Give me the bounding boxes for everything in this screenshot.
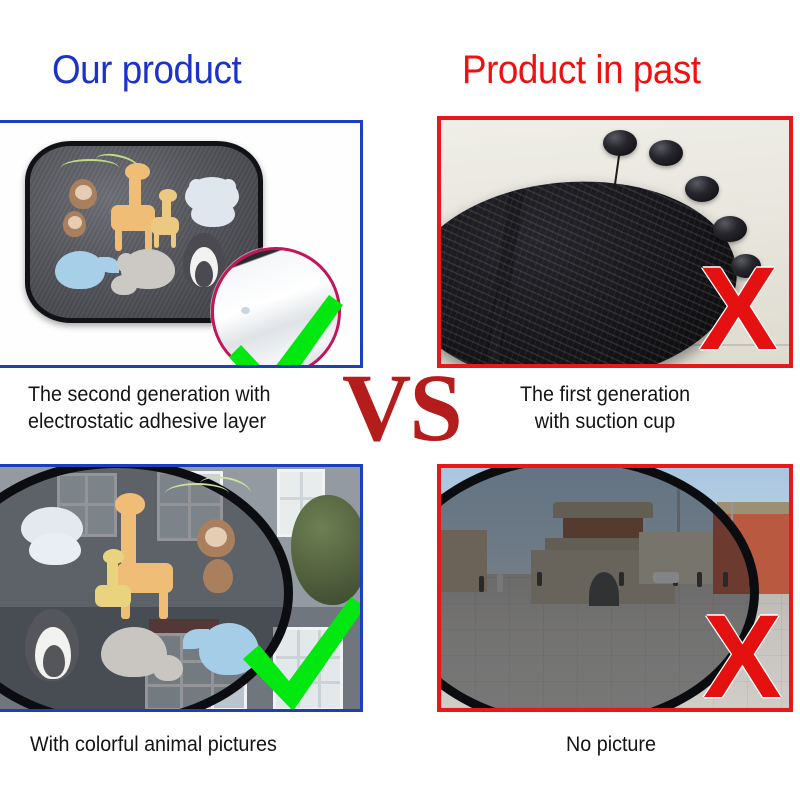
suction-cup-4 — [713, 216, 747, 242]
giraffe-decal-small-leg-1 — [154, 233, 159, 248]
heading-product-in-past: Product in past — [462, 48, 701, 93]
koala-decal-ear-left — [189, 179, 204, 194]
panel-bottom-right-no-picture: X — [437, 464, 793, 712]
giraffe-decal-installed-head — [115, 493, 145, 515]
elephant-decal-installed-baby — [153, 655, 183, 681]
penguin-decal-chick — [195, 261, 213, 287]
monkey-decal-installed-baby — [203, 559, 233, 593]
green-check-icon — [241, 595, 360, 709]
koala-decal-ear-right — [221, 179, 236, 194]
panel-top-right-product-in-past: X — [437, 116, 793, 368]
vs-label: VS — [342, 360, 461, 456]
giraffe-decal-head — [125, 163, 150, 180]
monkey-decal-face — [75, 185, 92, 200]
koala-decal-lower — [191, 199, 235, 227]
giraffe-decal-small-head — [159, 189, 177, 202]
giraffe-decal-small-leg-2 — [171, 233, 176, 248]
red-x-icon: X — [699, 250, 778, 368]
monkey-decal-baby-face — [68, 216, 82, 229]
heading-our-product: Our product — [52, 48, 241, 93]
panel-top-left-our-product — [0, 120, 363, 368]
photo-sunshade-installed-colorful — [0, 467, 360, 709]
caption-bottom-right: No picture — [566, 732, 656, 759]
whale-decal-body — [55, 251, 105, 289]
building-right-roof — [717, 502, 789, 514]
giraffe-decal-installed-leg-2 — [159, 591, 168, 619]
giraffe-decal-leg-2 — [145, 229, 152, 251]
giraffe-decal-leg-1 — [115, 229, 122, 251]
penguin-decal-installed-chick — [43, 645, 65, 677]
photo-second-generation-sunshade — [0, 123, 360, 365]
elephant-decal-baby — [111, 275, 137, 295]
koala-decal-installed-lower — [29, 533, 81, 565]
elephant-decal-ear — [117, 253, 135, 273]
suction-cup-1 — [603, 130, 637, 156]
monkey-decal-installed-face — [205, 527, 227, 547]
caption-bottom-left: With colorful animal pictures — [30, 732, 277, 759]
caption-top-left: The second generation with electrostatic… — [28, 382, 271, 436]
comparison-infographic: { "headings": { "left": "Our product", "… — [0, 0, 800, 800]
suction-cup-2 — [649, 140, 683, 166]
red-x-icon: X — [703, 598, 782, 712]
sunshade-strap — [481, 175, 524, 364]
green-check-icon — [225, 291, 345, 365]
panel-bottom-left-installed-with-pictures — [0, 464, 363, 712]
suction-cup-3 — [685, 176, 719, 202]
caption-top-right: The first generation with suction cup — [520, 382, 690, 436]
giraffe-decal-installed-small-head — [103, 549, 124, 564]
